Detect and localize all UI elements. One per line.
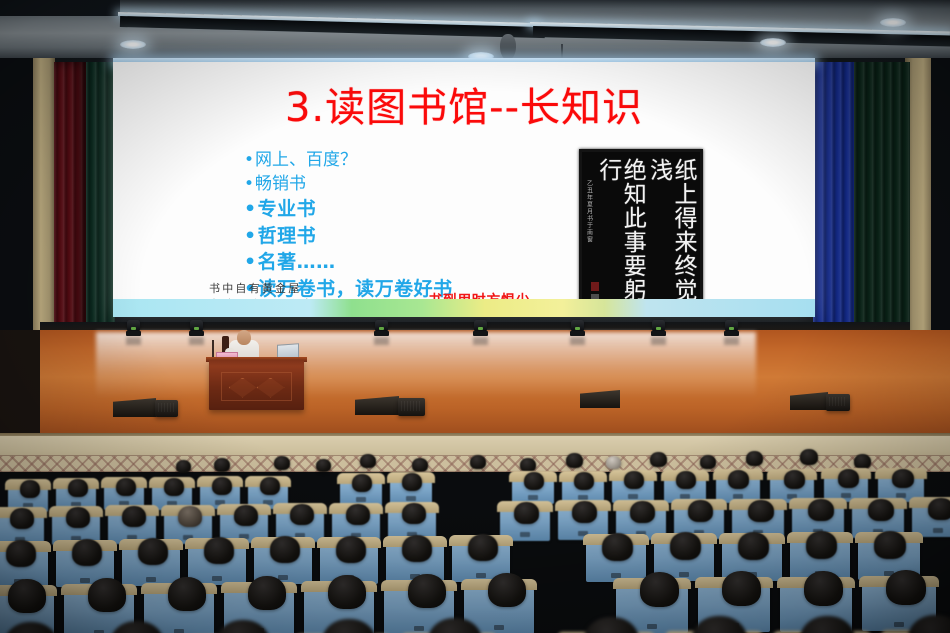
audience-head xyxy=(66,507,90,528)
audience-head xyxy=(360,454,376,468)
audience-head xyxy=(722,571,761,606)
audience-head xyxy=(168,577,206,611)
audience-head xyxy=(88,578,126,612)
audience-head xyxy=(784,470,805,489)
list-item-label: 哲理书 xyxy=(258,223,317,250)
audience-head xyxy=(650,452,667,467)
stage-moving-light xyxy=(189,320,204,337)
stage-light-reflection xyxy=(473,337,488,345)
slide-bullet-list: • 网上、百度？ • 畅销书 • 专业书 • 哲理书 • 名著…… • 读万卷书… xyxy=(244,148,574,303)
seat-number-plate xyxy=(520,532,530,537)
presenter-head xyxy=(237,330,251,345)
audience-head xyxy=(728,470,749,489)
seat-number-plate xyxy=(146,577,156,582)
list-item-label: 网上、百度？ xyxy=(255,148,357,172)
audience-head xyxy=(204,537,234,564)
bullet-marker: • xyxy=(244,148,254,172)
audience-head xyxy=(804,571,843,606)
lectern-panel xyxy=(221,372,292,401)
audience-head xyxy=(68,479,88,497)
stage-moving-light xyxy=(651,320,666,337)
audience-head xyxy=(408,574,446,608)
quote-line-1: 书中自有黄金屋 xyxy=(209,281,328,297)
audience-head xyxy=(72,539,102,566)
calligraphy-plaque: 纸上得来终觉浅 绝知此事要躬行 乙丑年夏月书于南窗 xyxy=(579,149,703,312)
audience-head xyxy=(676,471,696,489)
audience-head xyxy=(572,501,597,523)
stage-light-reflection xyxy=(570,337,585,345)
audience-head xyxy=(892,469,914,488)
audience-head xyxy=(412,458,428,472)
stage-moving-light xyxy=(570,320,585,337)
audience-head xyxy=(248,576,286,610)
audience-head xyxy=(10,508,34,529)
floor-monitor-speaker xyxy=(826,394,850,411)
audience-head xyxy=(260,477,280,495)
list-item: • 名著…… xyxy=(244,249,574,276)
audience-head xyxy=(214,458,230,472)
bullet-marker: • xyxy=(244,196,257,223)
list-item: • 网上、百度？ xyxy=(244,148,574,172)
audience-head xyxy=(316,459,331,472)
audience-head xyxy=(402,473,422,491)
calligraphy-column-2: 绝知此事要躬行 xyxy=(596,158,645,305)
auditorium-scene: 3.读图书馆--长知识 • 网上、百度？ • 畅销书 • 专业书 • 哲理书 •… xyxy=(0,0,950,633)
calligraphy-signature: 乙丑年夏月书于南窗 xyxy=(585,180,594,243)
audience-head xyxy=(212,477,232,495)
floor-monitor-speaker xyxy=(155,400,178,417)
slide-title: 3.读图书馆--长知识 xyxy=(113,88,815,128)
audience-head xyxy=(574,472,594,490)
audience-head xyxy=(700,455,716,469)
ceiling-shadow xyxy=(0,0,120,16)
list-item: • 畅销书 xyxy=(244,172,574,196)
stage-light-reflection xyxy=(189,337,204,345)
audience-head xyxy=(8,579,46,613)
calligraphy-seal-icon xyxy=(591,282,599,291)
seat-number-plate xyxy=(933,528,943,533)
stage-moving-light xyxy=(473,320,488,337)
seat-number-plate xyxy=(212,576,222,581)
audience-head xyxy=(470,455,486,469)
stage-left-shadow xyxy=(0,330,40,442)
audience-head xyxy=(122,506,146,527)
audience-head xyxy=(602,533,633,561)
floor-monitor-speaker xyxy=(398,398,425,416)
seat-number-plate xyxy=(80,578,90,583)
stage-moving-light xyxy=(374,320,389,337)
stage-banner-band xyxy=(113,299,815,317)
audience-head xyxy=(274,456,290,470)
calligraphy-column-1: 纸上得来终觉浅 xyxy=(646,158,695,305)
bullet-marker: • xyxy=(244,223,257,250)
audience-head xyxy=(670,532,701,560)
audience-head xyxy=(520,458,536,472)
stage-light-reflection xyxy=(651,337,666,345)
audience-head xyxy=(352,474,372,492)
audience-head xyxy=(928,498,950,520)
seat-number-plate xyxy=(628,494,638,499)
audience-head xyxy=(874,531,906,559)
seat-number-plate xyxy=(406,496,416,501)
seat-number-plate xyxy=(356,497,366,502)
audience-head xyxy=(116,478,136,496)
stage-light-reflection xyxy=(374,337,389,345)
lectern xyxy=(209,360,304,410)
seat-number-plate xyxy=(174,629,184,633)
audience-head xyxy=(868,499,894,521)
audience-head xyxy=(176,460,191,473)
audience-head xyxy=(164,478,184,496)
audience-head xyxy=(6,540,36,567)
audience-head xyxy=(688,500,713,522)
list-item-label: 专业书 xyxy=(258,196,317,223)
audience-head xyxy=(838,469,859,488)
ceiling-downlight xyxy=(880,18,906,27)
audience-head xyxy=(402,503,426,524)
audience-head xyxy=(20,480,40,498)
audience-head xyxy=(606,456,621,469)
microphone-stand xyxy=(212,340,214,358)
audience-area xyxy=(0,446,950,633)
audience-head xyxy=(630,501,655,523)
list-item-label: 畅销书 xyxy=(255,172,306,196)
stage-light-reflection xyxy=(126,337,141,345)
lectern-diamond-ornament xyxy=(229,378,285,396)
seat-number-plate xyxy=(647,624,657,629)
list-item-label: 名著…… xyxy=(258,249,336,276)
ceiling-downlight xyxy=(120,40,146,49)
audience-head xyxy=(854,454,871,469)
audience-head xyxy=(808,499,834,521)
seat-number-plate xyxy=(476,573,486,578)
list-item: • 专业书 xyxy=(244,196,574,223)
audience-head xyxy=(468,534,498,561)
seat-number-plate xyxy=(494,625,504,630)
seat-number-plate xyxy=(894,622,904,627)
ceiling-downlight xyxy=(760,38,786,47)
hanging-speaker xyxy=(500,34,516,60)
audience-head xyxy=(806,531,837,559)
audience-head xyxy=(800,449,818,465)
audience-head xyxy=(624,471,644,489)
stage-light-reflection xyxy=(724,337,739,345)
audience-head xyxy=(524,472,544,490)
stage-moving-light xyxy=(126,320,141,337)
audience-head xyxy=(488,573,526,607)
audience-head xyxy=(234,505,258,526)
audience-head xyxy=(138,538,168,565)
audience-head xyxy=(514,502,539,524)
list-item: • 哲理书 xyxy=(244,223,574,250)
audience-head xyxy=(270,536,300,563)
audience-head xyxy=(402,535,432,562)
audience-head xyxy=(290,504,314,525)
audience-head xyxy=(178,506,202,527)
seat-number-plate xyxy=(679,572,689,577)
audience-head xyxy=(346,504,370,525)
bullet-marker: • xyxy=(244,172,254,196)
audience-head xyxy=(886,570,926,605)
stage-moving-light xyxy=(724,320,739,337)
audience-head xyxy=(566,453,583,468)
seat-number-plate xyxy=(414,626,424,631)
audience-head xyxy=(738,532,769,560)
audience-head xyxy=(640,572,679,607)
projection-screen: 3.读图书馆--长知识 • 网上、百度？ • 畅销书 • 专业书 • 哲理书 •… xyxy=(113,62,815,317)
audience-head xyxy=(748,500,774,522)
audience-head xyxy=(328,575,366,609)
audience-head xyxy=(336,536,366,563)
seat-number-plate xyxy=(528,495,538,500)
audience-head xyxy=(746,451,763,466)
bullet-marker: • xyxy=(244,249,257,276)
